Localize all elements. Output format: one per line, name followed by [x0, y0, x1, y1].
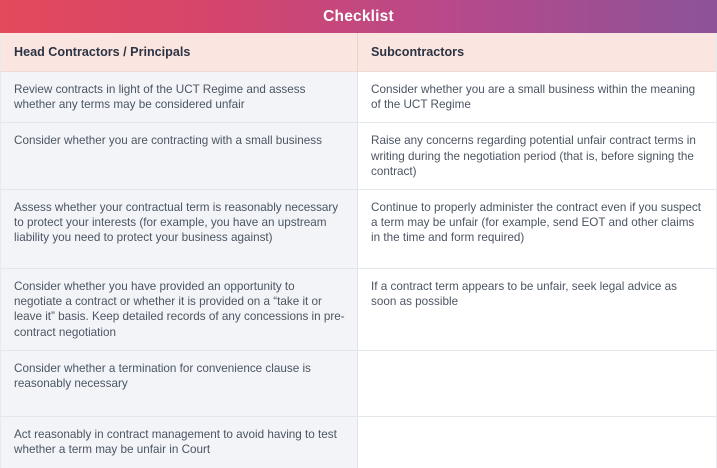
table-cell-subcontractors — [358, 351, 716, 416]
table-cell-subcontractors: Consider whether you are a small busines… — [358, 72, 716, 122]
table-cell-head-contractors: Consider whether you have provided an op… — [1, 269, 358, 350]
table-cell-subcontractors: Raise any concerns regarding potential u… — [358, 123, 716, 189]
table-cell-head-contractors: Assess whether your contractual term is … — [1, 190, 358, 268]
table-row: Assess whether your contractual term is … — [1, 190, 716, 269]
table-header-row: Head Contractors / Principals Subcontrac… — [1, 33, 716, 72]
checklist-table: Head Contractors / Principals Subcontrac… — [0, 33, 717, 468]
table-cell-head-contractors: Consider whether a termination for conve… — [1, 351, 358, 416]
table-cell-head-contractors: Consider whether you are contracting wit… — [1, 123, 358, 189]
table-row: Review contracts in light of the UCT Reg… — [1, 72, 716, 123]
checklist-widget: Checklist Head Contractors / Principals … — [0, 0, 717, 460]
column-header-subcontractors: Subcontractors — [358, 33, 716, 71]
column-header-head-contractors: Head Contractors / Principals — [1, 33, 358, 71]
table-cell-subcontractors: Continue to properly administer the cont… — [358, 190, 716, 268]
table-cell-head-contractors: Act reasonably in contract management to… — [1, 417, 358, 468]
page-title: Checklist — [323, 9, 394, 25]
table-row: Act reasonably in contract management to… — [1, 417, 716, 468]
table-row: Consider whether you are contracting wit… — [1, 123, 716, 190]
table-cell-subcontractors: If a contract term appears to be unfair,… — [358, 269, 716, 350]
table-row: Consider whether a termination for conve… — [1, 351, 716, 417]
table-row: Consider whether you have provided an op… — [1, 269, 716, 351]
table-cell-head-contractors: Review contracts in light of the UCT Reg… — [1, 72, 358, 122]
table-cell-subcontractors — [358, 417, 716, 468]
checklist-banner: Checklist — [0, 0, 717, 33]
